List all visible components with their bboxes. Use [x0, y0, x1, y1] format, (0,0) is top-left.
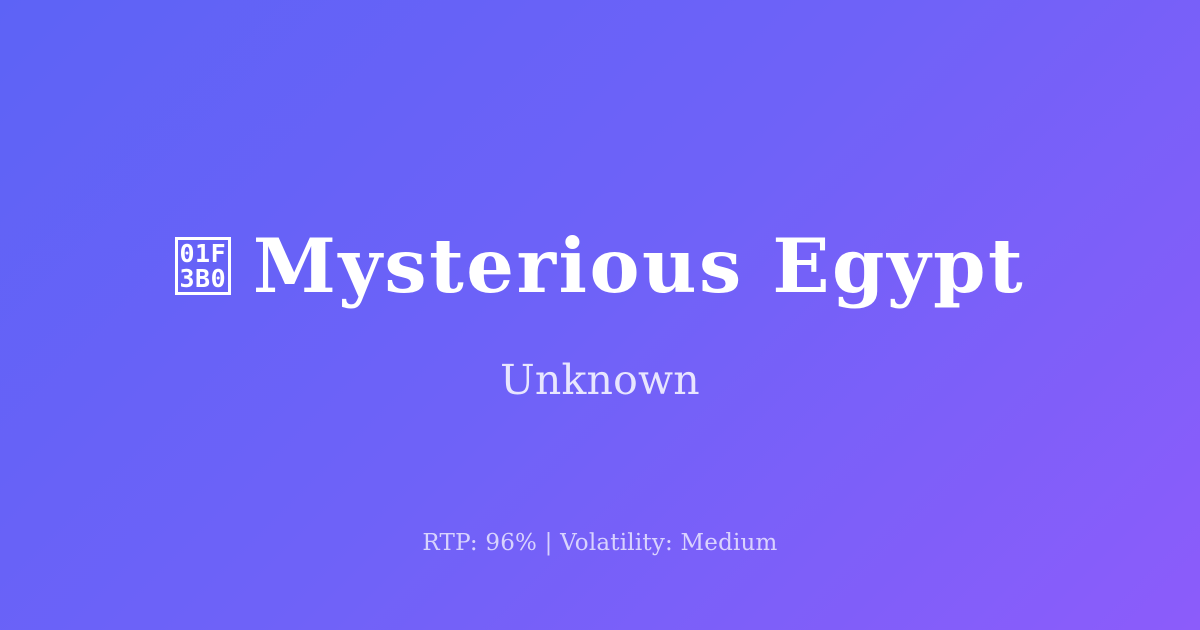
game-meta-line: RTP: 96% | Volatility: Medium — [0, 530, 1200, 558]
game-preview-card: 01F 3B0 Mysterious Egypt Unknown RTP: 96… — [0, 0, 1200, 630]
tofu-codepoint-top: 01F — [179, 241, 226, 266]
title-row: 01F 3B0 Mysterious Egypt — [0, 227, 1200, 306]
slot-machine-icon: 01F 3B0 — [175, 237, 231, 295]
provider-label: Unknown — [500, 358, 700, 403]
page-title: Mysterious Egypt — [253, 227, 1025, 306]
tofu-codepoint-bottom: 3B0 — [179, 266, 226, 291]
